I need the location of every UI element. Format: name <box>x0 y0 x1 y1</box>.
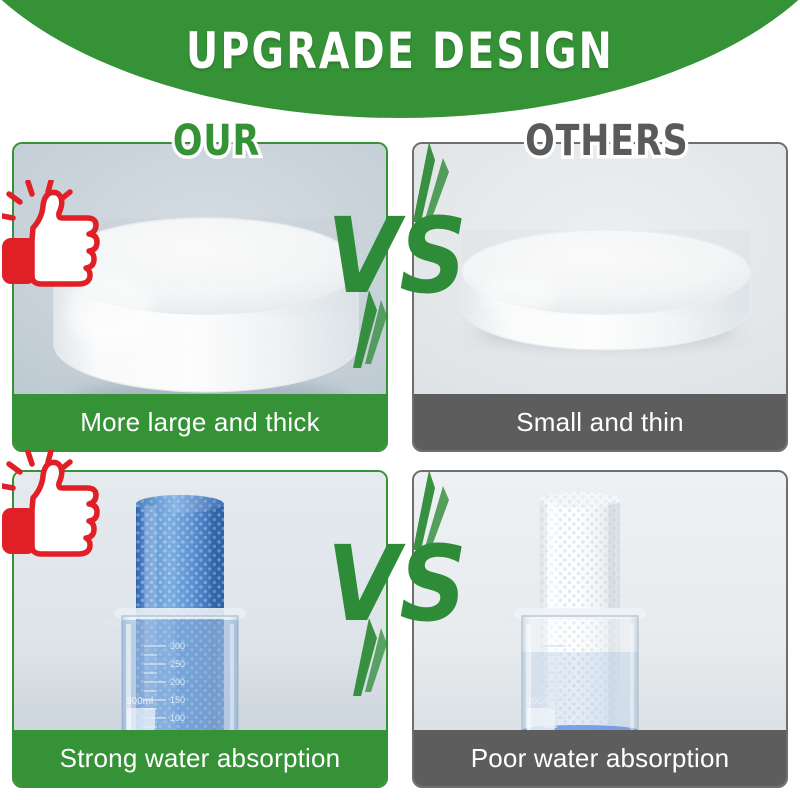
thumbs-up-icon <box>2 180 110 298</box>
heading-others: OTHERS <box>525 116 689 166</box>
heading-our: OUR <box>173 116 260 166</box>
grad-200: 200 <box>170 677 185 687</box>
caption-others-absorption: Poor water absorption <box>414 730 786 786</box>
comparison-grid: More large and thick <box>0 108 800 800</box>
caption-our-absorption: Strong water absorption <box>14 730 386 786</box>
page-title: UPGRADE DESIGN <box>48 22 752 80</box>
thumb-hand <box>32 462 97 554</box>
caption-others-thickness: Small and thin <box>414 394 786 450</box>
panel-others-thickness[interactable]: Small and thin <box>412 142 788 452</box>
thumbs-up-icon <box>2 450 110 568</box>
grad-150: 150 <box>570 695 585 705</box>
grad-300: 300 <box>170 641 185 651</box>
beaker-label-patch <box>527 708 555 730</box>
beaker-label-patch <box>127 708 155 730</box>
panel-others-absorption[interactable]: 150 100 50 300ml Poor water absorption <box>412 470 788 788</box>
grad-150: 150 <box>170 695 185 705</box>
infographic-canvas: UPGRADE DESIGN <box>0 0 800 800</box>
grad-250: 250 <box>170 659 185 669</box>
header-banner: UPGRADE DESIGN <box>0 0 800 118</box>
grad-100: 100 <box>170 713 185 723</box>
grad-100: 100 <box>570 713 585 723</box>
thumb-hand <box>32 192 97 284</box>
caption-our-thickness: More large and thick <box>14 394 386 450</box>
